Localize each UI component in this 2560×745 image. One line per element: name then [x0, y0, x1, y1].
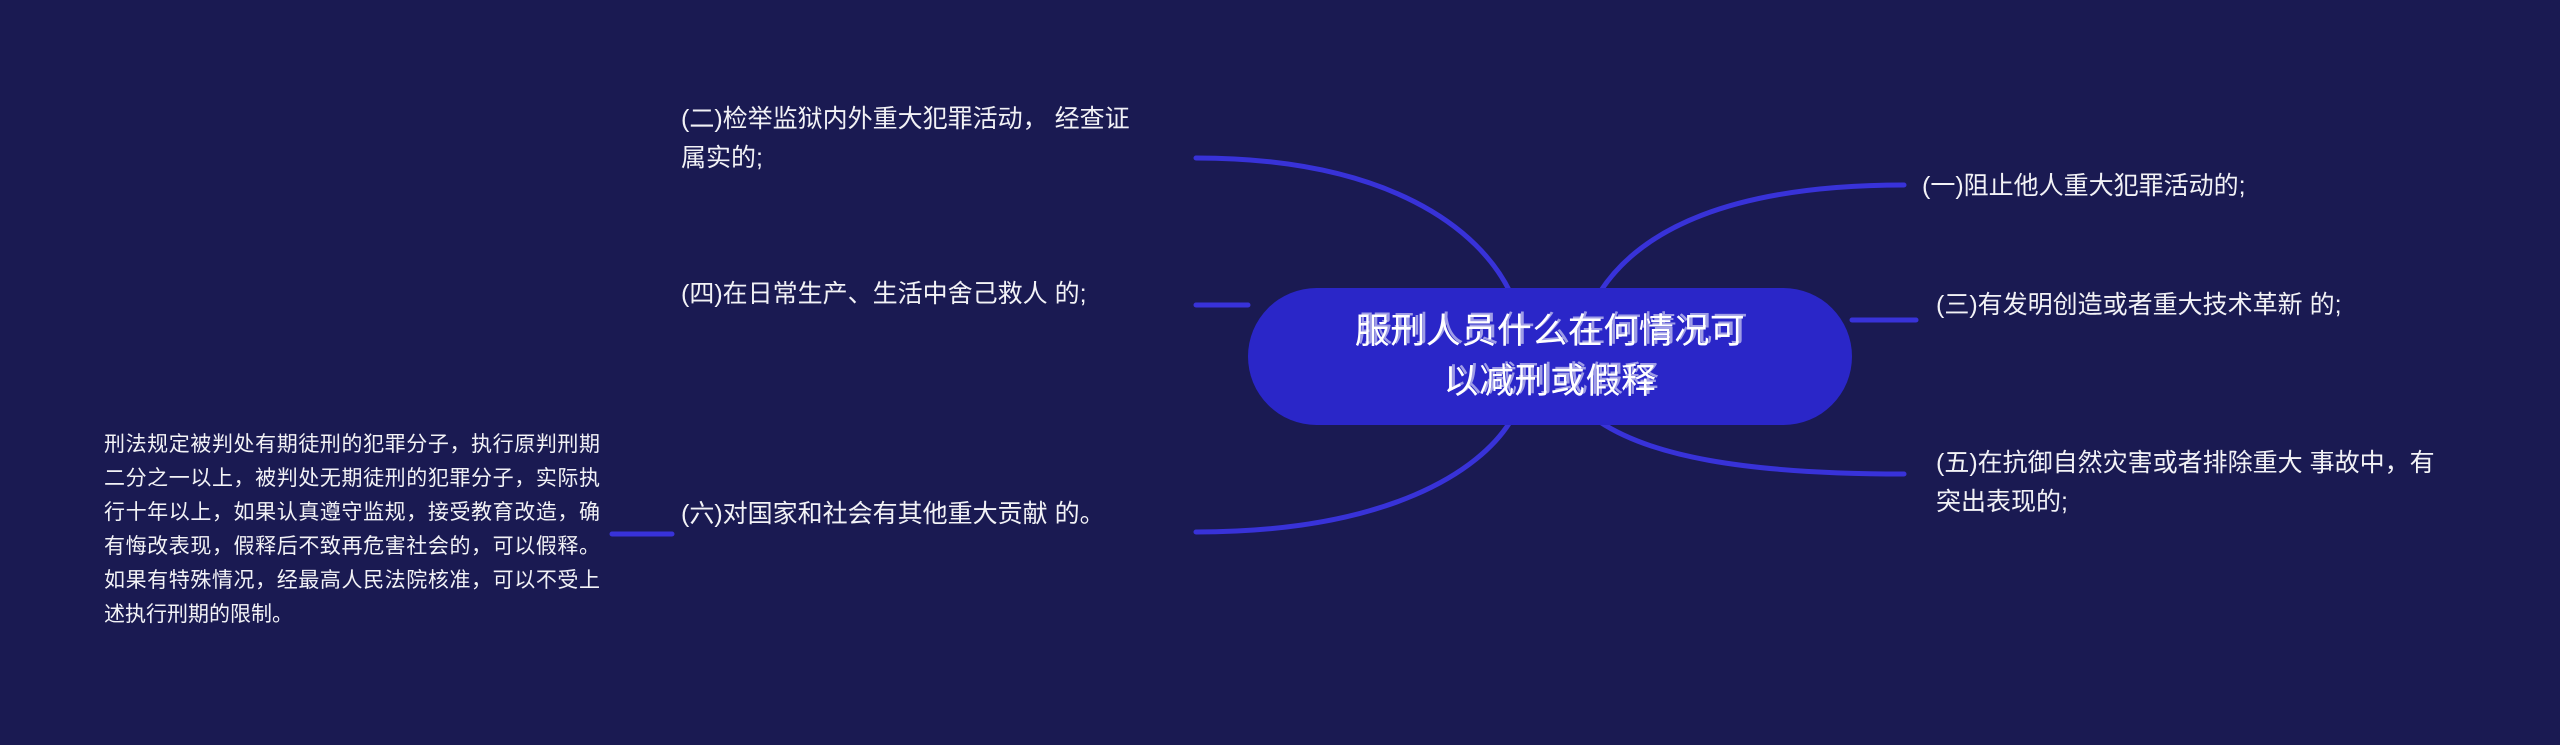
link-center-to-two [1196, 158, 1510, 292]
center-node[interactable]: 服刑人员什么在何情况可 以减刑或假释 服刑人员什么在何情况可 以减刑或假释 [1248, 288, 1852, 425]
branch-left-two[interactable]: (二)检举监狱内外重大犯罪活动， 经查证属实的; [681, 100, 1151, 178]
link-center-to-one [1600, 185, 1904, 292]
mindmap-canvas: 服刑人员什么在何情况可 以减刑或假释 服刑人员什么在何情况可 以减刑或假释 (二… [0, 0, 2560, 745]
center-node-text-wrap: 服刑人员什么在何情况可 以减刑或假释 服刑人员什么在何情况可 以减刑或假释 [1248, 307, 1852, 407]
center-node-label-ghost: 服刑人员什么在何情况可 以减刑或假释 [1251, 305, 1855, 405]
branch-right-five[interactable]: (五)在抗御自然灾害或者排除重大 事故中，有突出表现的; [1936, 444, 2456, 522]
leaf-note-parole-rules[interactable]: 刑法规定被判处有期徒刑的犯罪分子，执行原判刑期二分之一以上，被判处无期徒刑的犯罪… [104, 428, 600, 632]
branch-right-one[interactable]: (一)阻止他人重大犯罪活动的; [1922, 167, 2442, 206]
branch-left-four[interactable]: (四)在日常生产、生活中舍己救人 的; [681, 275, 1151, 314]
link-center-to-six [1196, 422, 1510, 532]
link-center-to-five [1600, 422, 1904, 474]
branch-left-six[interactable]: (六)对国家和社会有其他重大贡献 的。 [681, 495, 1151, 534]
branch-right-three[interactable]: (三)有发明创造或者重大技术革新 的; [1936, 286, 2456, 325]
